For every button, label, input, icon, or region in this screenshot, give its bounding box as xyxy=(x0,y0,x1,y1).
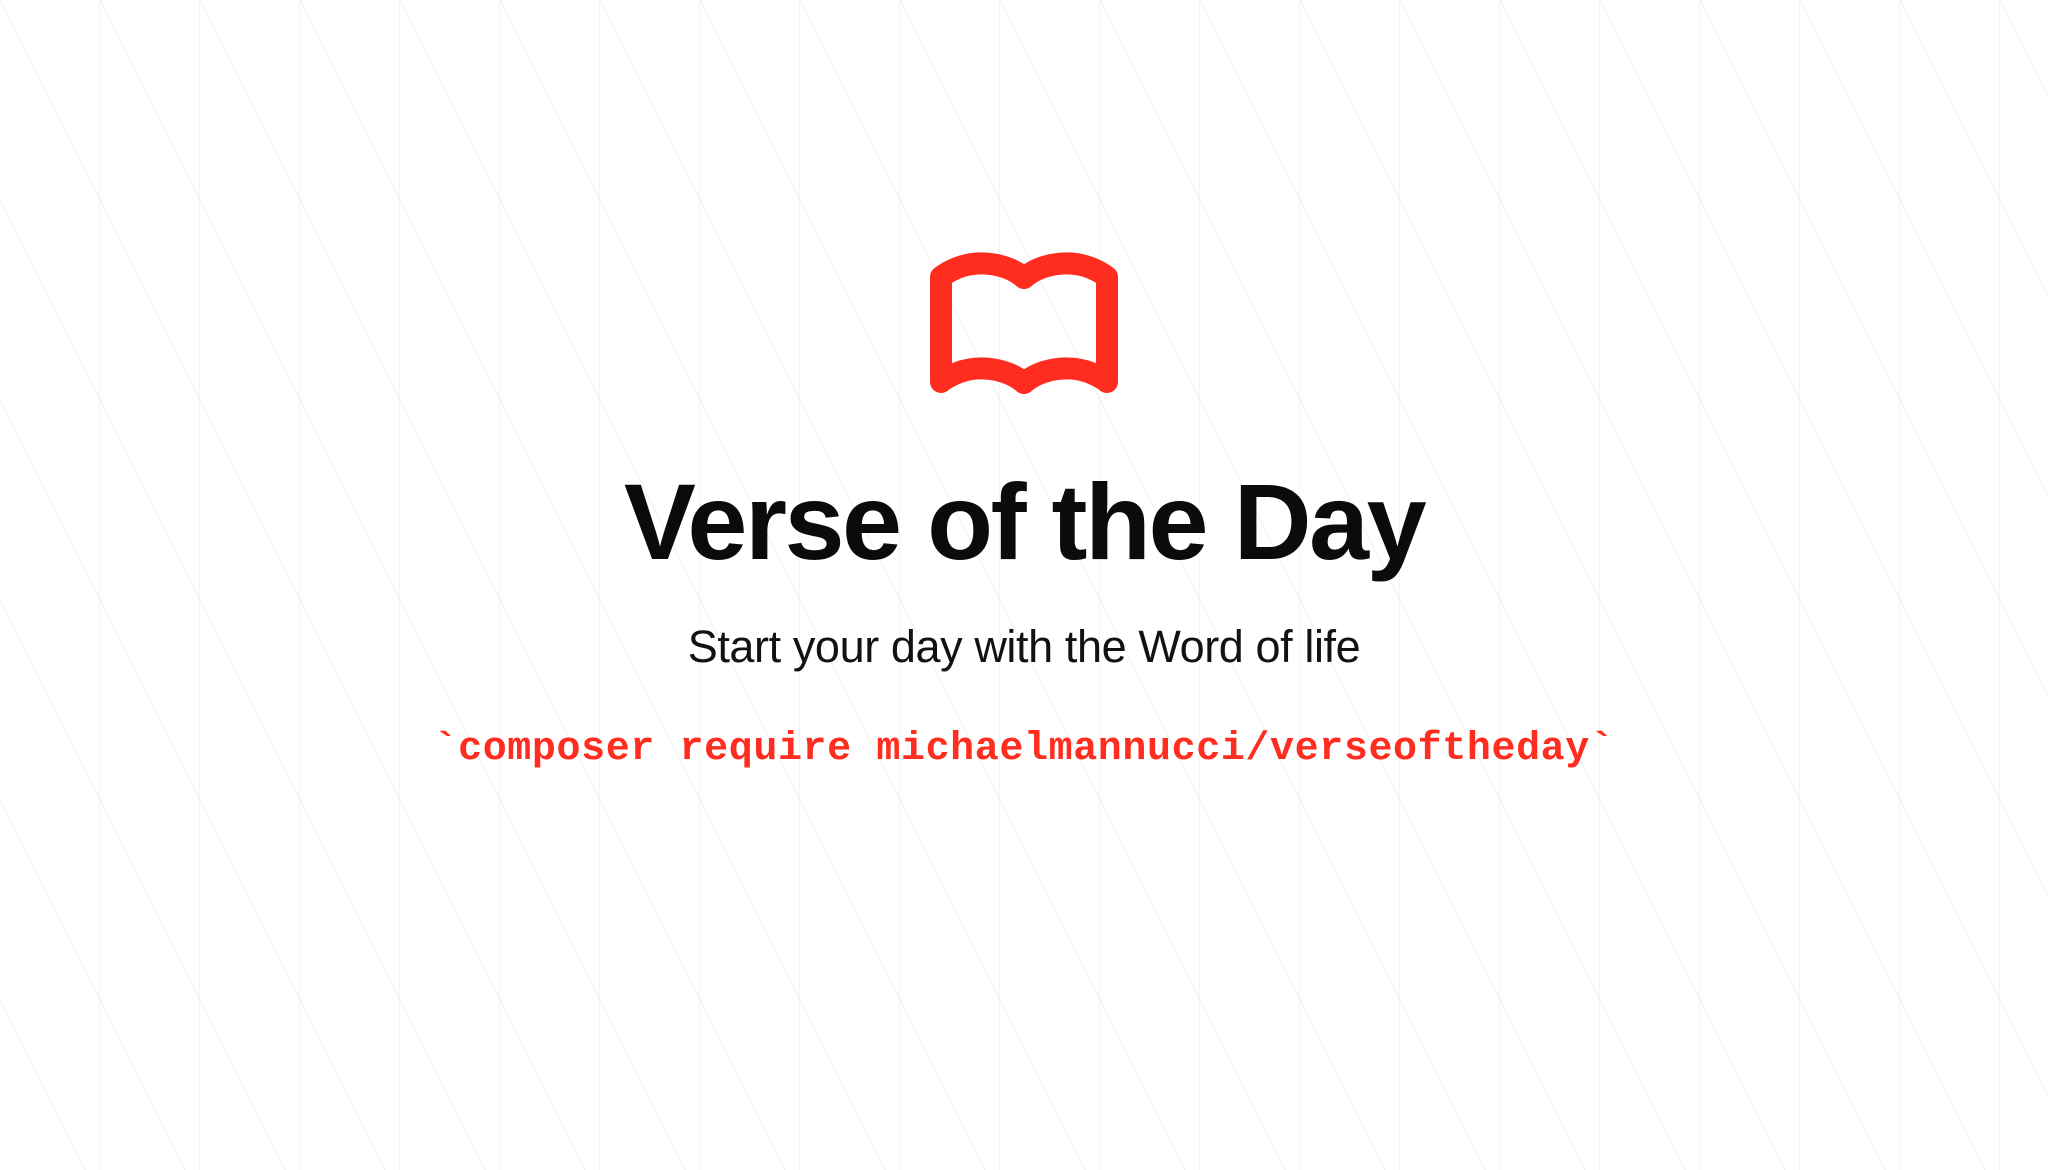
hero-section: Verse of the Day Start your day with the… xyxy=(0,0,2048,1170)
page-title: Verse of the Day xyxy=(624,468,1424,576)
install-command[interactable]: `composer require michaelmannucci/verseo… xyxy=(434,726,1615,774)
page-subtitle: Start your day with the Word of life xyxy=(688,620,1361,674)
open-book-icon xyxy=(928,250,1120,412)
